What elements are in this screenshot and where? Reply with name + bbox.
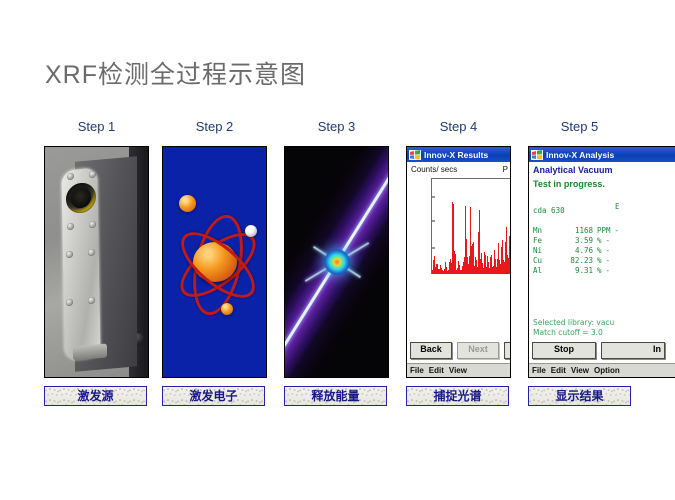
menu-item-edit[interactable]: Edit [429,366,444,375]
menu-item-edit[interactable]: Edit [551,366,566,375]
result-element: Mn [533,226,553,236]
result-error: - [602,246,611,256]
result-element: Cu [533,256,553,266]
step-caption-2: 激发电子 [162,386,265,406]
pda-screen-analysis: Innov-X Analysis Analytical Vacuum Test … [529,147,675,377]
menu-item-file[interactable]: File [410,366,424,375]
analysis-menu-bar[interactable]: FileEditViewOption [529,363,675,377]
menu-item-view[interactable]: View [571,366,589,375]
atom-background [163,147,266,377]
results-menu-bar[interactable]: FileEditView [407,363,510,377]
energy-emission-image [284,146,389,378]
step-column-2: Step 2 激发电子 [162,118,267,378]
match-cutoff-line: Match cutoff = 3.0 [533,328,614,338]
result-value: 3.59 [553,236,593,246]
menu-item-view[interactable]: View [449,366,467,375]
result-element: Al [533,266,553,276]
save-button[interactable]: S [504,342,510,359]
menu-item-option[interactable]: Option [594,366,620,375]
spectrum-window: Innov-X Results Counts/ secs P 0.91.82.6… [406,146,511,378]
spectrum-plot: 0.91.82.60.05.010.015.02 [431,178,510,274]
step-caption-4: 捕捉光谱 [406,386,509,406]
result-unit: % [593,266,602,276]
next-button[interactable]: Next [457,342,499,359]
electron-icon [221,303,233,315]
windows-flag-icon [531,150,543,160]
selected-library-line: Selected library: vacu [533,318,614,328]
result-error: - [602,256,611,266]
step-caption-label-3: 释放能量 [285,387,386,405]
step-column-1: Step 1 激发源 [44,118,149,378]
analysis-button-row: Stop In [532,342,675,359]
result-row: Mn1168PPM- [533,226,619,236]
analysis-title-bar: Innov-X Analysis [529,147,675,162]
result-error: - [602,266,611,276]
step-label-2: Step 2 [162,118,267,136]
step-caption-label-2: 激发电子 [163,387,264,405]
result-unit: % [593,246,602,256]
analysis-results-list: cda 630 Mn1168PPM-Fe3.59%-Ni4.76%-Cu82.2… [533,206,619,276]
analysis-window: Innov-X Analysis Analytical Vacuum Test … [528,146,675,378]
result-value: 1168 [553,226,593,236]
stop-button[interactable]: Stop [532,342,596,359]
result-error: - [611,226,620,236]
library-info: Selected library: vacu Match cutoff = 3.… [533,318,614,338]
step-caption-label-4: 捕捉光谱 [407,387,508,405]
menu-item-file[interactable]: File [532,366,546,375]
result-unit: % [593,236,602,246]
step-caption-label-1: 激发源 [45,387,146,405]
analysis-body: Analytical Vacuum Test in progress. E cd… [529,162,675,364]
step-label-1: Step 1 [44,118,149,136]
result-element: Ni [533,246,553,256]
step-column-3: Step 3 释放能量 [284,118,389,378]
result-row: Cu82.23%- [533,256,619,266]
step-label-3: Step 3 [284,118,389,136]
result-unit: % [593,256,602,266]
results-button-row: Back Next S [410,342,510,359]
spacer [533,216,619,226]
mounting-foot [73,344,107,361]
results-body: Counts/ secs P 0.91.82.60.05.010.015.02 … [407,162,510,364]
result-row: Ni4.76%- [533,246,619,256]
corner-label: P [503,165,508,174]
photo-background [45,147,148,377]
step-caption-3: 释放能量 [284,386,387,406]
electron-icon [179,195,196,212]
result-value: 4.76 [553,246,593,256]
result-value: 82.23 [553,256,593,266]
y-axis-title: Counts/ secs [411,165,457,174]
result-value: 9.31 [553,266,593,276]
emission-background [285,147,388,377]
energy-core [324,249,350,275]
result-row: Al9.31%- [533,266,619,276]
step-caption-5: 显示结果 [528,386,631,406]
step-label-5: Step 5 [528,118,631,136]
info-button[interactable]: In [601,342,665,359]
analysis-window-title: Innov-X Analysis [546,150,614,160]
pda-screen-results: Innov-X Results Counts/ secs P 0.91.82.6… [407,147,510,377]
result-row: Fe3.59%- [533,236,619,246]
atom-diagram [162,146,267,378]
back-button[interactable]: Back [410,342,452,359]
step-label-4: Step 4 [406,118,511,136]
analysis-heading: Analytical Vacuum [533,165,613,175]
step-column-5: Step 5 Innov-X Analysis Analytical Vacuu… [528,118,675,378]
page-title: XRF检测全过程示意图 [45,55,306,91]
results-window-title: Innov-X Results [424,150,488,160]
step-caption-label-5: 显示结果 [529,387,630,405]
step-caption-1: 激发源 [44,386,147,406]
result-element: Fe [533,236,553,246]
result-unit: PPM [593,226,611,236]
results-title-bar: Innov-X Results [407,147,510,162]
xray-source-photo [44,146,149,378]
result-error: - [602,236,611,246]
ejected-electron-icon [245,225,257,237]
sample-id: cda 630 [533,206,619,216]
analysis-status: Test in progress. [533,179,605,189]
windows-flag-icon [409,150,421,160]
step-column-4: Step 4 Innov-X Results Counts/ secs P [406,118,511,378]
